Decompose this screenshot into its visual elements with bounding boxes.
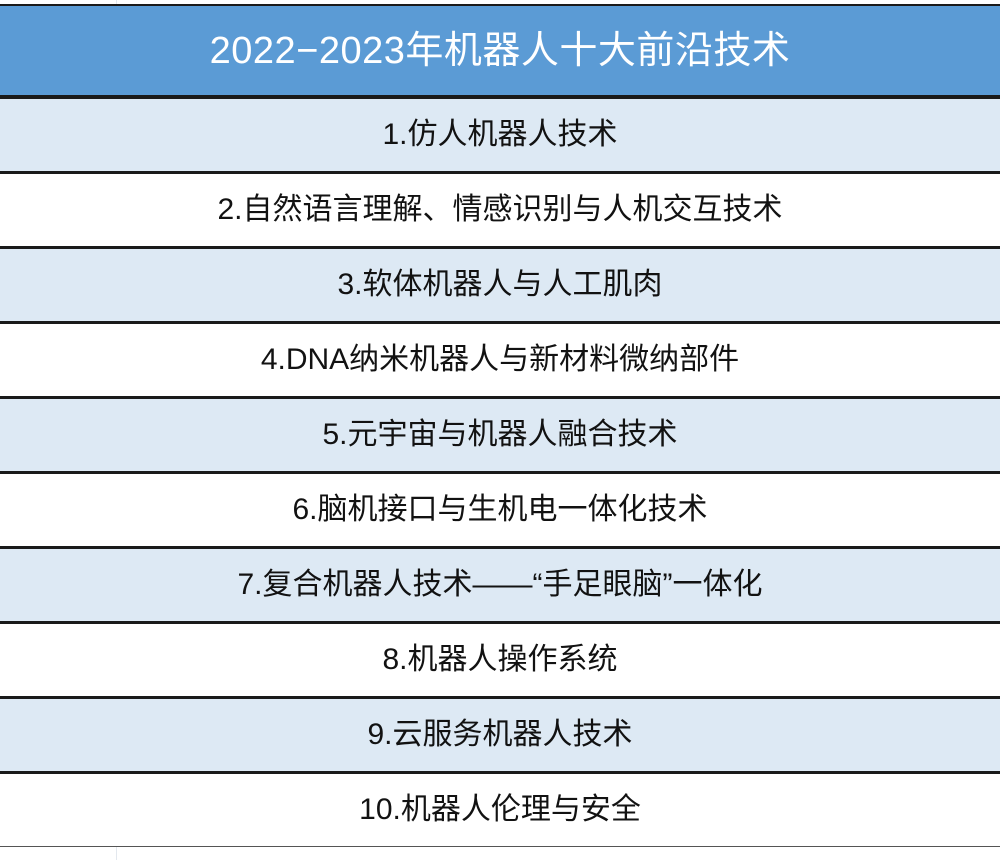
table-row[interactable]: 5.元宇宙与机器人融合技术: [0, 397, 1000, 472]
table-cell-item-8[interactable]: 8.机器人操作系统: [0, 622, 1000, 697]
table-title: 2022−2023年机器人十大前沿技术: [210, 32, 791, 70]
item-label-10: 10.机器人伦理与安全: [359, 795, 641, 825]
table-sheet: 2022−2023年机器人十大前沿技术 1.仿人机器人技术 2.自然语言理解、情…: [0, 0, 1000, 860]
table-cell-item-2[interactable]: 2.自然语言理解、情感识别与人机交互技术: [0, 172, 1000, 247]
table-row[interactable]: 4.DNA纳米机器人与新材料微纳部件: [0, 322, 1000, 397]
item-label-5: 5.元宇宙与机器人融合技术: [322, 420, 677, 450]
table-cell-item-6[interactable]: 6.脑机接口与生机电一体化技术: [0, 472, 1000, 547]
item-label-1: 1.仿人机器人技术: [382, 120, 617, 150]
item-label-9: 9.云服务机器人技术: [367, 720, 632, 750]
item-label-2: 2.自然语言理解、情感识别与人机交互技术: [217, 195, 782, 225]
top-technologies-table: 2022−2023年机器人十大前沿技术 1.仿人机器人技术 2.自然语言理解、情…: [0, 4, 1000, 847]
item-label-4: 4.DNA纳米机器人与新材料微纳部件: [261, 345, 739, 375]
table-cell-item-9[interactable]: 9.云服务机器人技术: [0, 697, 1000, 772]
item-label-8: 8.机器人操作系统: [382, 645, 617, 675]
table-cell-item-4[interactable]: 4.DNA纳米机器人与新材料微纳部件: [0, 322, 1000, 397]
table-row[interactable]: 6.脑机接口与生机电一体化技术: [0, 472, 1000, 547]
item-label-3: 3.软体机器人与人工肌肉: [337, 270, 662, 300]
table-cell-item-1[interactable]: 1.仿人机器人技术: [0, 97, 1000, 172]
table-row[interactable]: 9.云服务机器人技术: [0, 697, 1000, 772]
table-header-cell: 2022−2023年机器人十大前沿技术: [0, 4, 1000, 97]
item-label-6: 6.脑机接口与生机电一体化技术: [292, 495, 707, 525]
table-row[interactable]: 10.机器人伦理与安全: [0, 772, 1000, 847]
table-header-row: 2022−2023年机器人十大前沿技术: [0, 4, 1000, 97]
item-label-7: 7.复合机器人技术——“手足眼脑”一体化: [238, 570, 763, 600]
table-row[interactable]: 7.复合机器人技术——“手足眼脑”一体化: [0, 547, 1000, 622]
table-row[interactable]: 8.机器人操作系统: [0, 622, 1000, 697]
table-row[interactable]: 3.软体机器人与人工肌肉: [0, 247, 1000, 322]
table-cell-item-10[interactable]: 10.机器人伦理与安全: [0, 772, 1000, 847]
table-row[interactable]: 2.自然语言理解、情感识别与人机交互技术: [0, 172, 1000, 247]
table-cell-item-5[interactable]: 5.元宇宙与机器人融合技术: [0, 397, 1000, 472]
table-body: 2022−2023年机器人十大前沿技术 1.仿人机器人技术 2.自然语言理解、情…: [0, 4, 1000, 847]
table-cell-item-7[interactable]: 7.复合机器人技术——“手足眼脑”一体化: [0, 547, 1000, 622]
table-cell-item-3[interactable]: 3.软体机器人与人工肌肉: [0, 247, 1000, 322]
table-row[interactable]: 1.仿人机器人技术: [0, 97, 1000, 172]
